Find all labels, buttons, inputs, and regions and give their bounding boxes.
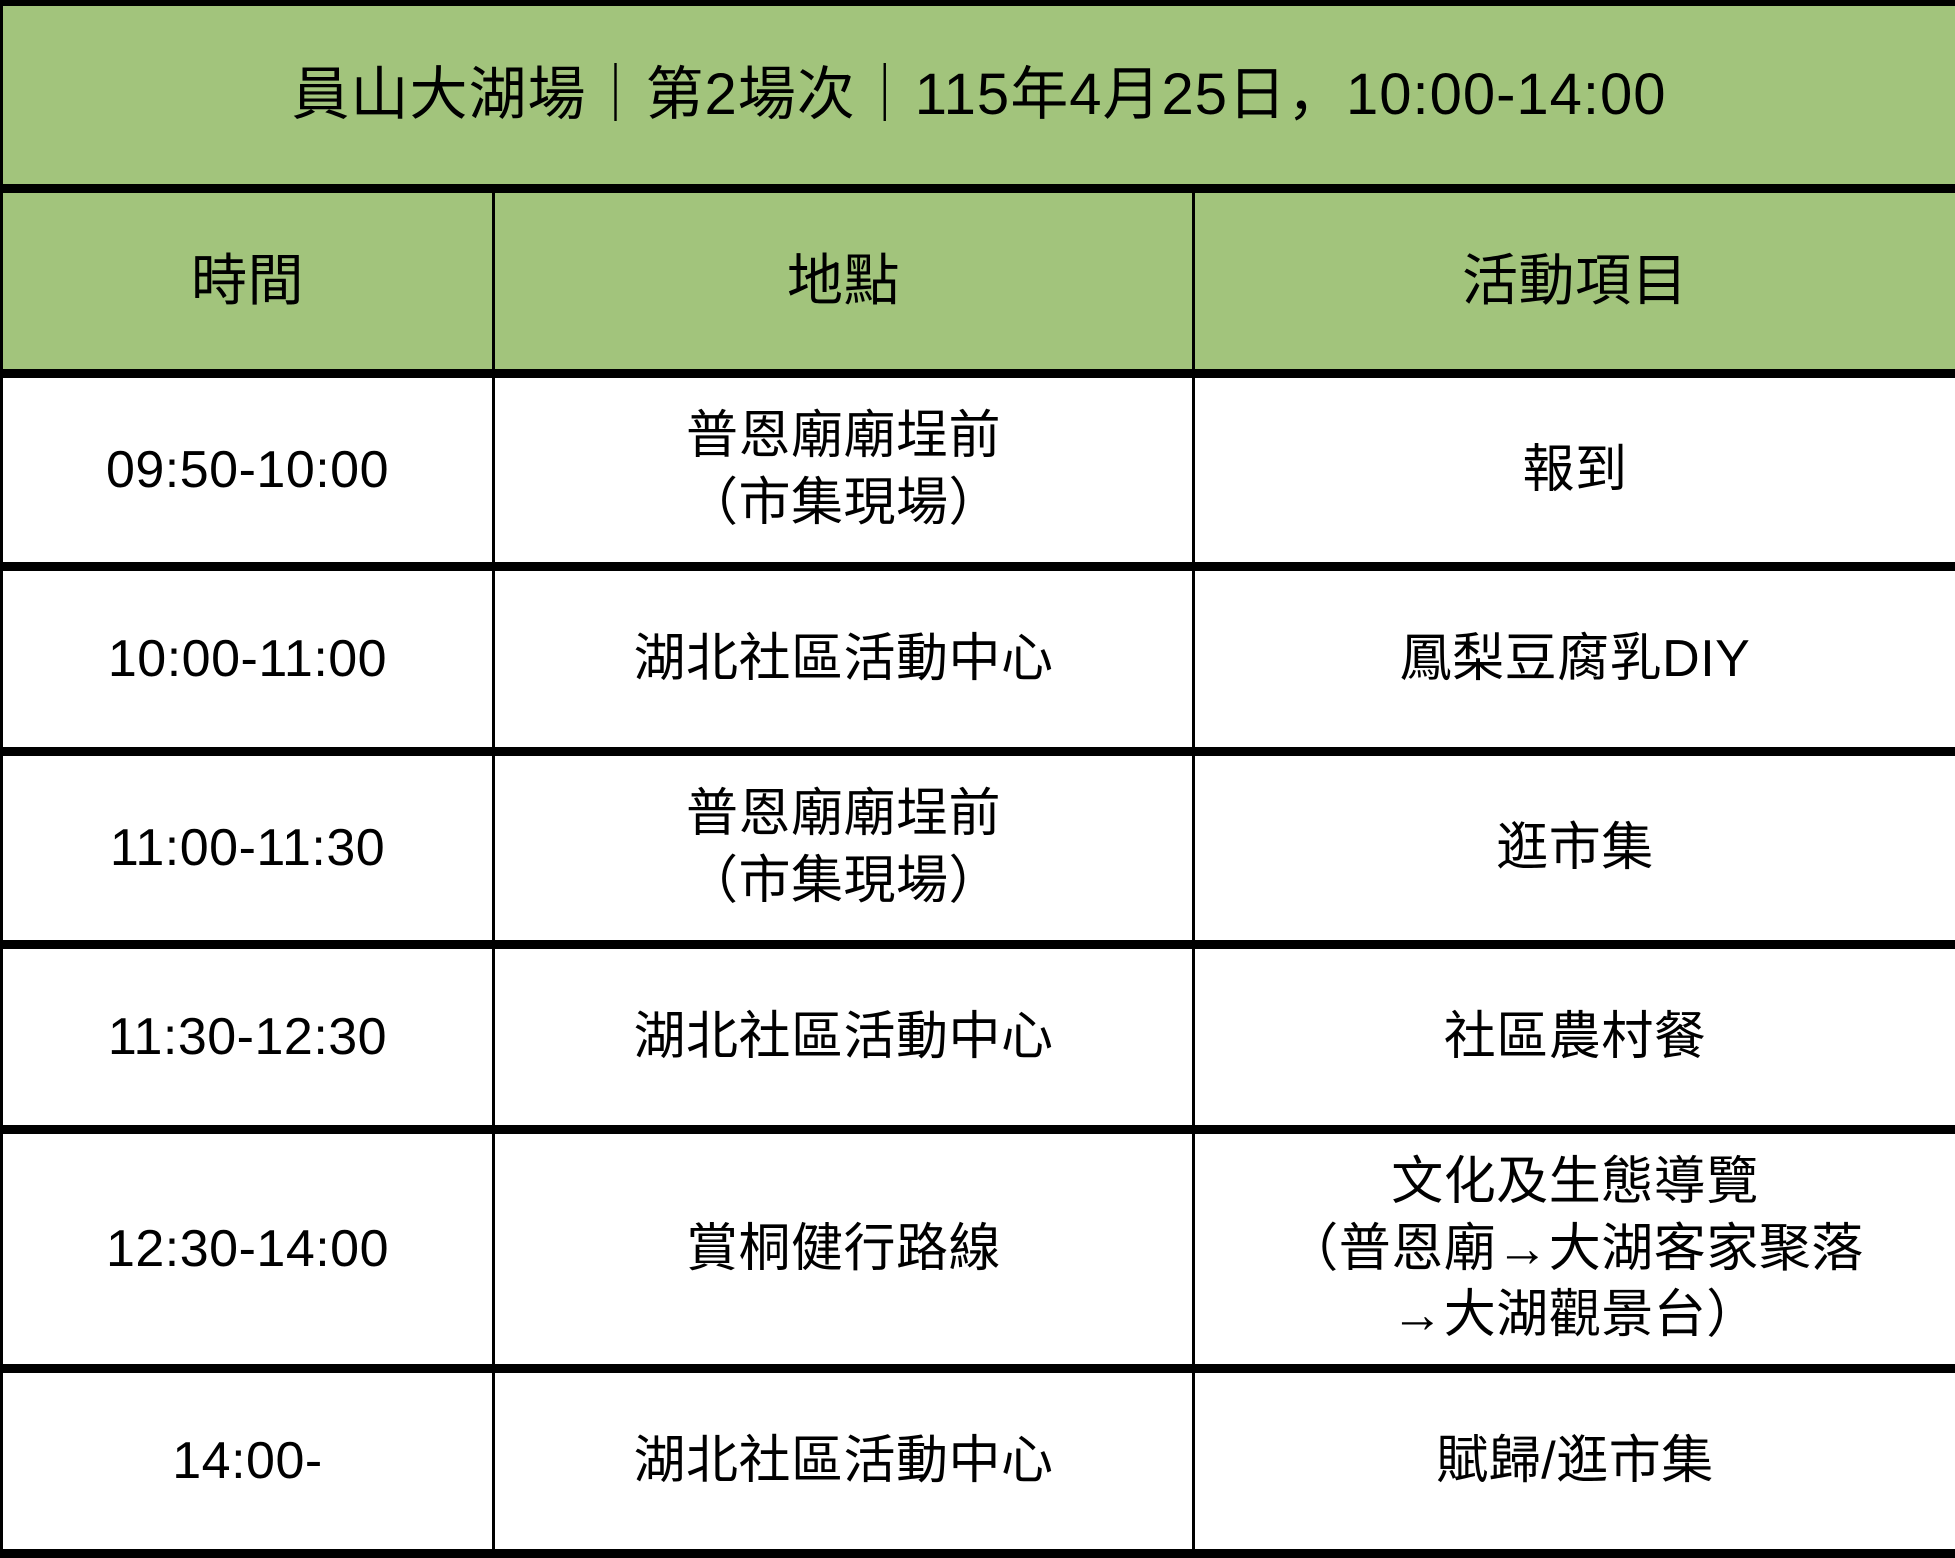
cell-activity-line: →大湖觀景台）	[1203, 1282, 1947, 1349]
cell-activity: 賦歸/逛市集	[1194, 1369, 1955, 1554]
cell-place-line: 賞桐健行路線	[503, 1216, 1184, 1283]
cell-place: 湖北社區活動中心	[494, 567, 1194, 752]
table-row: 14:00- 湖北社區活動中心 賦歸/逛市集	[2, 1369, 1955, 1554]
cell-place-line: （市集現場）	[503, 848, 1184, 915]
cell-activity: 社區農村餐	[1194, 945, 1955, 1130]
cell-place: 普恩廟廟埕前 （市集現場）	[494, 752, 1194, 945]
cell-activity-line: 鳳梨豆腐乳DIY	[1203, 626, 1947, 693]
cell-time: 11:00-11:30	[2, 752, 494, 945]
cell-time: 12:30-14:00	[2, 1130, 494, 1369]
cell-activity-line: 社區農村餐	[1203, 1004, 1947, 1071]
column-header-time: 時間	[2, 189, 494, 374]
cell-place: 湖北社區活動中心	[494, 945, 1194, 1130]
cell-activity-line: 文化及生態導覽	[1203, 1149, 1947, 1216]
table-title-row: 員山大湖場｜第2場次｜115年4月25日，10:00-14:00	[2, 3, 1955, 189]
cell-place-line: 普恩廟廟埕前	[503, 781, 1184, 848]
table-row: 12:30-14:00 賞桐健行路線 文化及生態導覽 （普恩廟→大湖客家聚落 →…	[2, 1130, 1955, 1369]
table-row: 11:00-11:30 普恩廟廟埕前 （市集現場） 逛市集	[2, 752, 1955, 945]
cell-time: 09:50-10:00	[2, 374, 494, 567]
column-header-activity: 活動項目	[1194, 189, 1955, 374]
cell-place: 賞桐健行路線	[494, 1130, 1194, 1369]
column-header-place: 地點	[494, 189, 1194, 374]
cell-place-line: 湖北社區活動中心	[503, 626, 1184, 693]
cell-time: 14:00-	[2, 1369, 494, 1554]
cell-place-line: 湖北社區活動中心	[503, 1004, 1184, 1071]
cell-activity-line: 報到	[1203, 437, 1947, 504]
table-header-row: 時間 地點 活動項目	[2, 189, 1955, 374]
cell-activity-line: 逛市集	[1203, 815, 1947, 882]
cell-place-line: 湖北社區活動中心	[503, 1428, 1184, 1495]
cell-time: 11:30-12:30	[2, 945, 494, 1130]
cell-activity: 逛市集	[1194, 752, 1955, 945]
table-row: 11:30-12:30 湖北社區活動中心 社區農村餐	[2, 945, 1955, 1130]
table-row: 09:50-10:00 普恩廟廟埕前 （市集現場） 報到	[2, 374, 1955, 567]
page-title: 員山大湖場｜第2場次｜115年4月25日，10:00-14:00	[2, 3, 1955, 189]
cell-activity-line: （普恩廟→大湖客家聚落	[1203, 1216, 1947, 1283]
cell-activity: 鳳梨豆腐乳DIY	[1194, 567, 1955, 752]
cell-activity: 報到	[1194, 374, 1955, 567]
cell-place-line: 普恩廟廟埕前	[503, 403, 1184, 470]
cell-place-line: （市集現場）	[503, 470, 1184, 537]
table-row: 10:00-11:00 湖北社區活動中心 鳳梨豆腐乳DIY	[2, 567, 1955, 752]
cell-activity: 文化及生態導覽 （普恩廟→大湖客家聚落 →大湖觀景台）	[1194, 1130, 1955, 1369]
event-schedule-table: 員山大湖場｜第2場次｜115年4月25日，10:00-14:00 時間 地點 活…	[0, 0, 1955, 1558]
cell-time: 10:00-11:00	[2, 567, 494, 752]
cell-place: 湖北社區活動中心	[494, 1369, 1194, 1554]
cell-place: 普恩廟廟埕前 （市集現場）	[494, 374, 1194, 567]
cell-activity-line: 賦歸/逛市集	[1203, 1428, 1947, 1495]
